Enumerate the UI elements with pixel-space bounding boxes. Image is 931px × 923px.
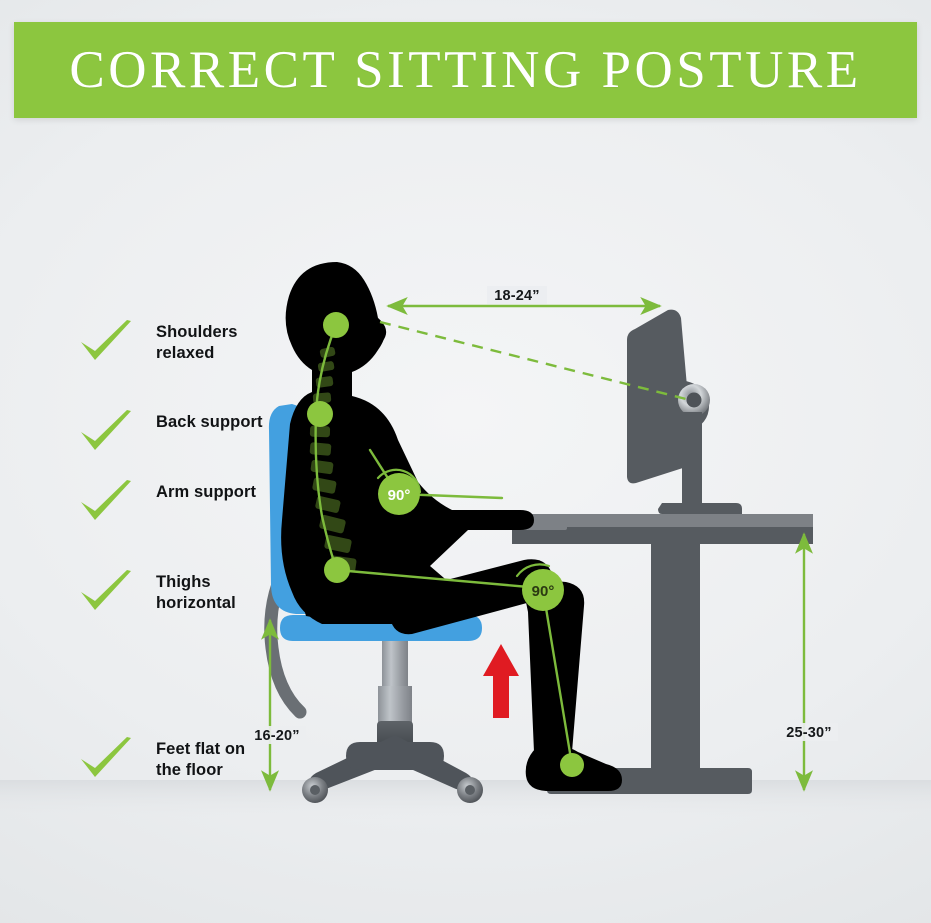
desk-height-label: 25-30” <box>786 725 832 741</box>
monitor-hinge-center <box>687 393 702 408</box>
chair-gas-cylinder-lower <box>378 686 412 724</box>
elbow-angle-label: 90° <box>388 487 411 504</box>
desk <box>455 514 813 794</box>
red-up-arrow-icon <box>483 644 519 718</box>
infographic-canvas: CORRECT SITTING POSTURE Shoulders relaxe… <box>0 0 931 923</box>
ankle-joint-marker <box>560 753 584 777</box>
monitor-stand-foot <box>658 503 742 514</box>
chair-gas-cylinder-upper <box>382 641 408 689</box>
hip-joint-marker <box>324 557 350 583</box>
angle-badge-knee: 90° <box>522 569 564 611</box>
knee-angle-label: 90° <box>532 583 555 600</box>
head-joint-marker <box>323 312 349 338</box>
viewing-distance-label: 18-24” <box>494 288 540 304</box>
posture-illustration: 90° 90° 18-24” 16-20” 25-30” <box>0 0 931 923</box>
chair-base-center <box>346 742 444 770</box>
monitor-stand-neck <box>682 412 702 512</box>
chair-caster-right-hub <box>465 785 475 795</box>
computer-monitor <box>627 310 742 514</box>
dimension-desk-height: 25-30” <box>780 534 838 790</box>
angle-badge-elbow: 90° <box>378 473 420 515</box>
seat-height-label: 16-20” <box>254 728 300 744</box>
chair-caster-left-hub <box>310 785 320 795</box>
shoulder-joint-marker <box>307 401 333 427</box>
height-adjust-arrow <box>483 644 519 718</box>
dimension-viewing-distance: 18-24” <box>388 286 660 306</box>
desk-column <box>651 544 700 768</box>
